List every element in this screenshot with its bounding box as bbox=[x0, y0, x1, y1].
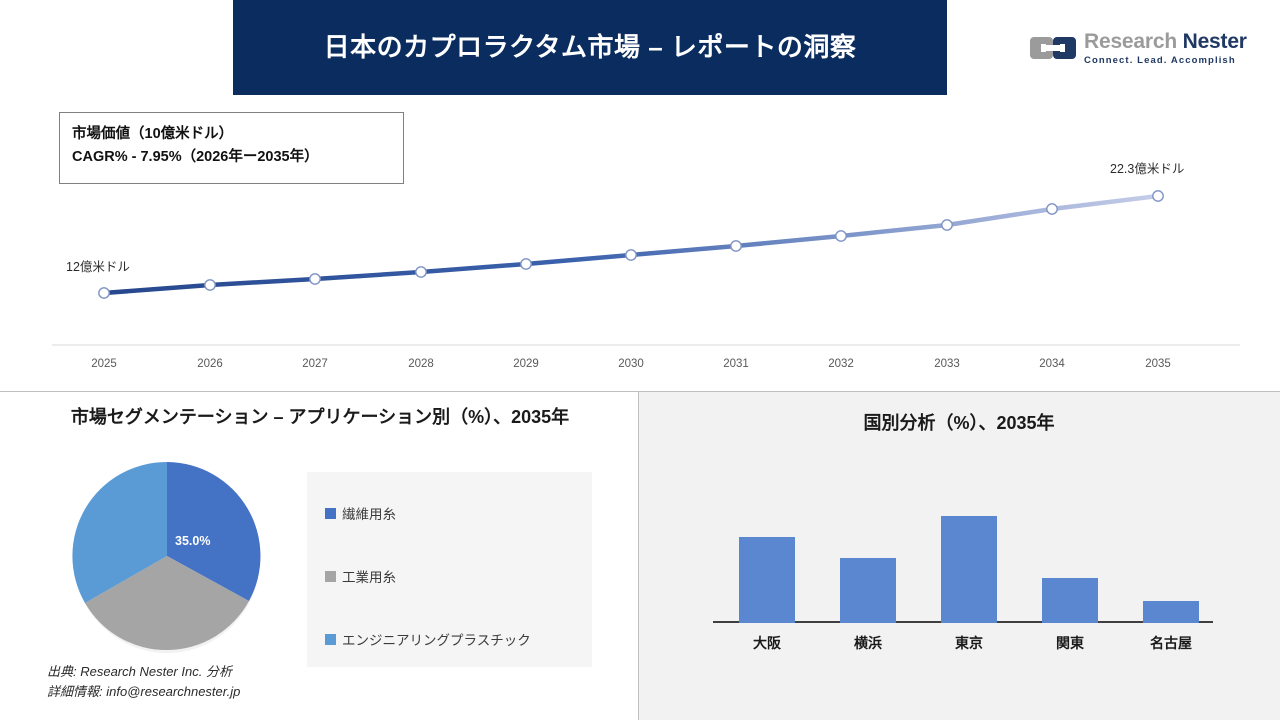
trend-line-path bbox=[104, 196, 1158, 293]
segmentation-title: 市場セグメンテーション – アプリケーション別（%）、2035年 bbox=[60, 404, 580, 431]
vertical-divider bbox=[638, 391, 639, 720]
kpi-cagr: CAGR% - 7.95%（2026年ー2035年） bbox=[72, 146, 391, 169]
market-value-line-chart: 市場価値（10億米ドル） CAGR% - 7.95%（2026年ー2035年） bbox=[0, 96, 1280, 391]
legend-swatch-icon-industrial-yarn bbox=[325, 571, 336, 582]
bar-nagoya[interactable] bbox=[1143, 601, 1199, 623]
country-analysis-title: 国別分析（%）、2035年 bbox=[659, 410, 1259, 437]
country-bar-chart: 大阪 横浜 東京 関東 名古屋 bbox=[699, 487, 1219, 657]
bar-label-tokyo: 東京 bbox=[919, 633, 1019, 653]
data-point-2027 bbox=[310, 274, 320, 284]
legend-label-engineering-plastics: エンジニアリングプラスチック bbox=[342, 629, 531, 649]
logo-tagline: Connect. Lead. Accomplish bbox=[1084, 56, 1247, 66]
data-point-2035 bbox=[1153, 191, 1163, 201]
legend-swatch-icon-engineering-plastics bbox=[325, 634, 336, 645]
x-tick-2031: 2031 bbox=[706, 358, 766, 370]
data-point-2026 bbox=[205, 280, 215, 290]
bar-yokohama[interactable] bbox=[840, 558, 896, 623]
bar-label-kanto: 関東 bbox=[1020, 633, 1120, 653]
logo-wordmark: Research Nester bbox=[1084, 31, 1247, 52]
data-point-2031 bbox=[731, 241, 741, 251]
country-analysis-panel: 国別分析（%）、2035年 大阪 横浜 東京 関東 名古屋 bbox=[639, 392, 1280, 720]
x-tick-2033: 2033 bbox=[917, 358, 977, 370]
legend-item-engineering-plastics[interactable]: エンジニアリングプラスチック bbox=[325, 618, 592, 660]
source-line: 出典: Research Nester Inc. 分析 bbox=[47, 662, 240, 682]
legend-label-industrial-yarn: 工業用糸 bbox=[342, 566, 396, 586]
x-tick-2027: 2027 bbox=[285, 358, 345, 370]
segmentation-panel: 市場セグメンテーション – アプリケーション別（%）、2035年 35.0% 繊… bbox=[0, 392, 638, 720]
data-point-2034 bbox=[1047, 204, 1057, 214]
data-point-2029 bbox=[521, 259, 531, 269]
data-point-2033 bbox=[942, 220, 952, 230]
source-footnote: 出典: Research Nester Inc. 分析 詳細情報: info@r… bbox=[47, 662, 240, 702]
x-tick-2029: 2029 bbox=[496, 358, 556, 370]
x-tick-2026: 2026 bbox=[180, 358, 240, 370]
data-point-2032 bbox=[836, 231, 846, 241]
x-tick-2030: 2030 bbox=[601, 358, 661, 370]
x-tick-2035: 2035 bbox=[1128, 358, 1188, 370]
logo-word-research: Research bbox=[1084, 30, 1177, 53]
data-point-2025 bbox=[99, 288, 109, 298]
legend-item-textile-yarn[interactable]: 繊維用糸 bbox=[325, 492, 592, 534]
line-start-value-label: 12億米ドル bbox=[66, 256, 130, 275]
page-title: 日本のカプロラクタム市場 – レポートの洞察 bbox=[324, 30, 857, 64]
brand-logo: Research Nester Connect. Lead. Accomplis… bbox=[1030, 22, 1260, 74]
bar-label-nagoya: 名古屋 bbox=[1121, 633, 1221, 653]
segmentation-pie-chart: 35.0% bbox=[62, 456, 272, 656]
line-end-value-label: 22.3億米ドル bbox=[1110, 158, 1184, 177]
bar-label-yokohama: 横浜 bbox=[818, 633, 918, 653]
bar-kanto[interactable] bbox=[1042, 578, 1098, 623]
bar-osaka[interactable] bbox=[739, 537, 795, 623]
research-nester-logo-icon bbox=[1030, 33, 1076, 63]
kpi-callout-box: 市場価値（10億米ドル） CAGR% - 7.95%（2026年ー2035年） bbox=[59, 112, 404, 184]
contact-line: 詳細情報: info@researchnester.jp bbox=[47, 682, 240, 702]
kpi-market-value: 市場価値（10億米ドル） bbox=[72, 123, 391, 146]
logo-word-nester: Nester bbox=[1183, 30, 1247, 53]
data-point-2028 bbox=[416, 267, 426, 277]
legend-label-textile-yarn: 繊維用糸 bbox=[342, 503, 396, 523]
x-tick-2034: 2034 bbox=[1022, 358, 1082, 370]
pie-legend: 繊維用糸 工業用糸 エンジニアリングプラスチック bbox=[307, 472, 592, 667]
x-tick-2032: 2032 bbox=[811, 358, 871, 370]
page-header: 日本のカプロラクタム市場 – レポートの洞察 Research Nester C… bbox=[0, 0, 1280, 96]
data-point-2030 bbox=[626, 250, 636, 260]
bar-label-osaka: 大阪 bbox=[717, 633, 817, 653]
bar-tokyo[interactable] bbox=[941, 516, 997, 623]
x-tick-2028: 2028 bbox=[391, 358, 451, 370]
bottom-section: 市場セグメンテーション – アプリケーション別（%）、2035年 35.0% 繊… bbox=[0, 391, 1280, 720]
title-banner: 日本のカプロラクタム市場 – レポートの洞察 bbox=[233, 0, 947, 95]
legend-swatch-icon-textile-yarn bbox=[325, 508, 336, 519]
logo-text: Research Nester Connect. Lead. Accomplis… bbox=[1084, 31, 1247, 66]
pie-svg bbox=[62, 456, 272, 656]
x-tick-2025: 2025 bbox=[74, 358, 134, 370]
legend-item-industrial-yarn[interactable]: 工業用糸 bbox=[325, 555, 592, 597]
